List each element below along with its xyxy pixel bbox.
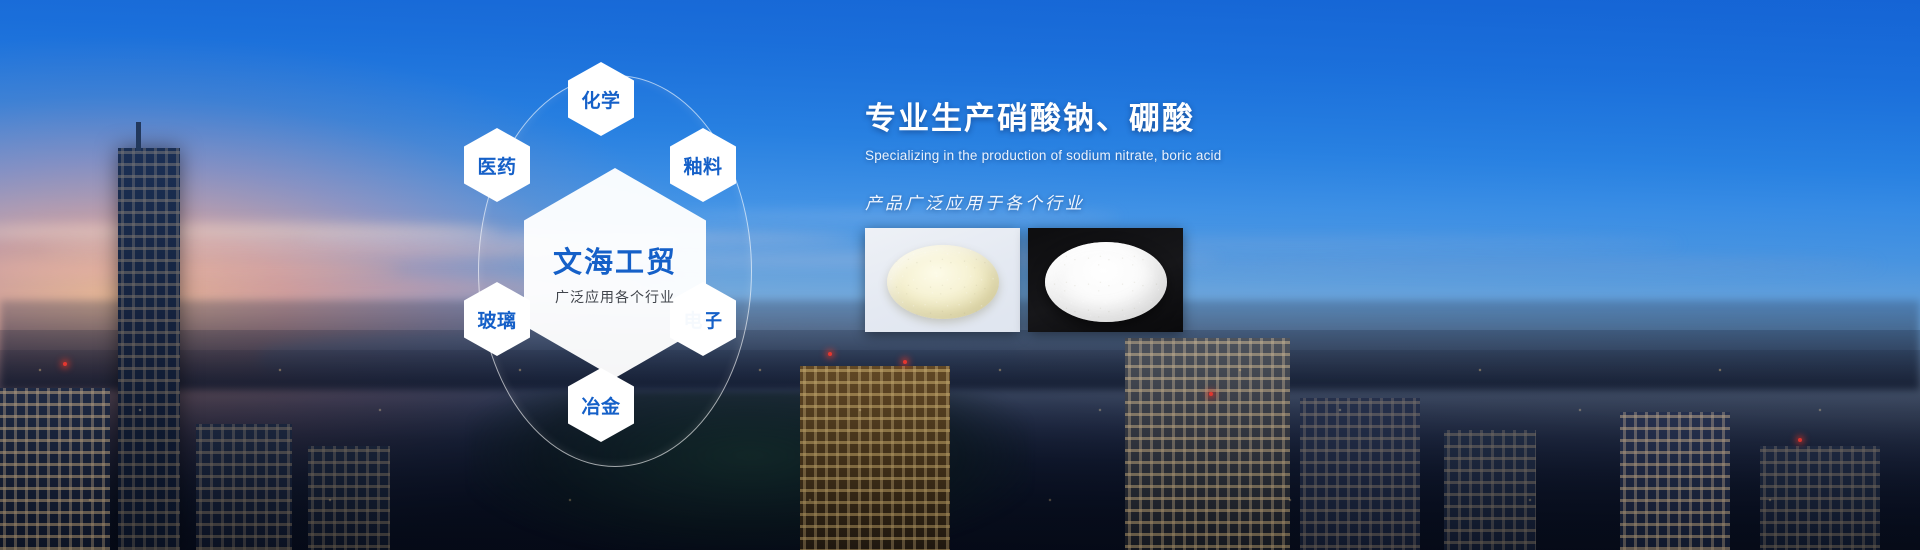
industry-hexagon-diagram: 化学 釉料 电子 冶金 玻璃 医药 文海工贸 广泛应用各个行业 [430,20,800,550]
promo-banner: 化学 釉料 电子 冶金 玻璃 医药 文海工贸 广泛应用各个行业 专业生产硝酸钠、… [0,0,1920,550]
powder-pile-yellow [887,245,999,319]
headline-chinese: 专业生产硝酸钠、硼酸 [865,100,1505,139]
city-point-lights [0,340,1920,550]
tagline-chinese: 产品广泛应用于各个行业 [865,189,1505,214]
product-photo-boric-acid [1028,228,1183,332]
aviation-light [828,352,832,356]
aviation-light [1209,392,1213,396]
aviation-light [63,362,67,366]
hex-label-medicine: 医药 [477,152,516,179]
company-tagline: 广泛应用各个行业 [555,287,675,307]
product-photo-strip [865,228,1183,332]
aviation-light [903,360,907,364]
hex-label-glaze: 釉料 [683,152,722,179]
product-photo-sodium-nitrate [865,228,1020,332]
hex-label-glass: 玻璃 [477,306,516,333]
powder-pile-white [1045,242,1167,322]
subheadline-english: Specializing in the production of sodium… [865,148,1505,163]
hex-label-chemistry: 化学 [581,86,620,113]
headline-block: 专业生产硝酸钠、硼酸 Specializing in the productio… [865,100,1505,214]
hex-label-metallurgy: 冶金 [581,392,620,419]
company-name: 文海工贸 [553,239,677,281]
aviation-light [1798,438,1802,442]
